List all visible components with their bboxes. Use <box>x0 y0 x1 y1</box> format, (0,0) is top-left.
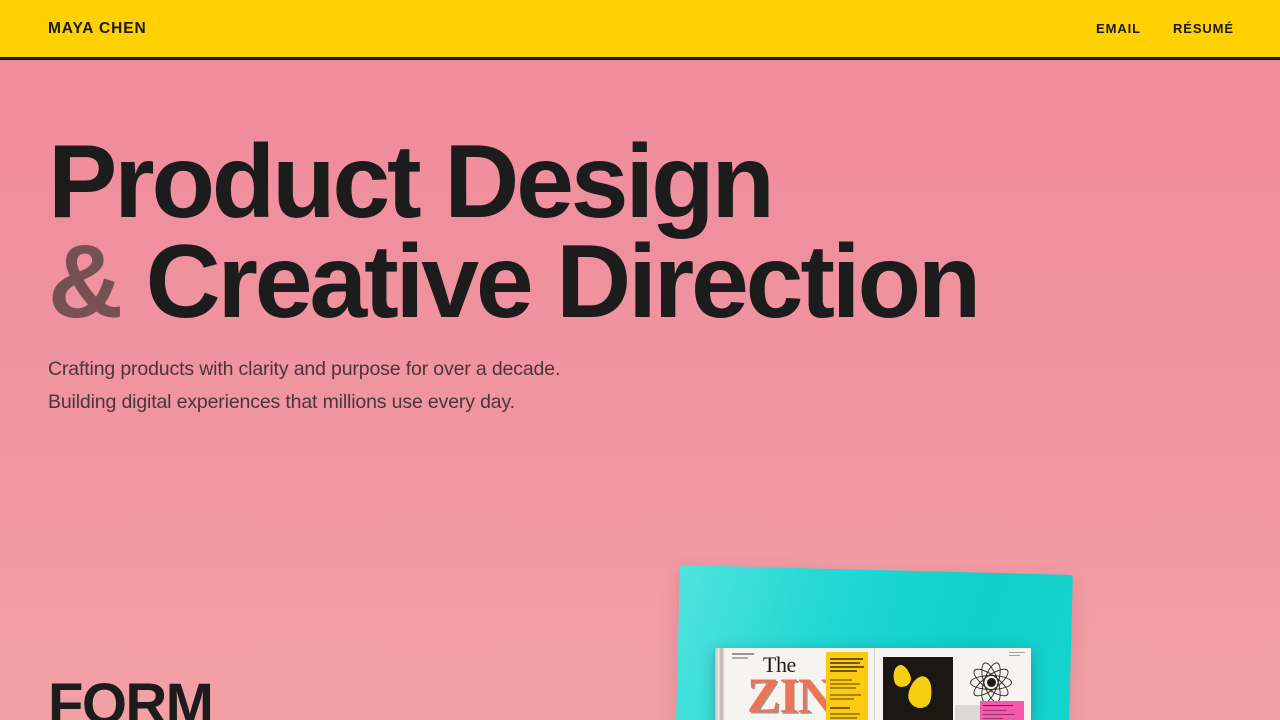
magazine-pink-note <box>980 701 1024 720</box>
site-header: MAYA CHEN EMAIL RÉSUMÉ <box>0 0 1280 60</box>
open-magazine: The ZIN <box>715 648 1041 720</box>
headline-line-2: Creative Direction <box>146 224 979 340</box>
page-background: MAYA CHEN EMAIL RÉSUMÉ Product Design & … <box>0 0 1280 720</box>
magazine-right-page <box>875 648 1031 720</box>
nav-link-resume[interactable]: RÉSUMÉ <box>1173 22 1234 35</box>
magazine-grey-sketch-note <box>955 705 981 720</box>
magazine-left-page: The ZIN <box>725 648 875 720</box>
headline-line-1: Product Design <box>48 124 772 240</box>
hero-photo-magazine: The ZIN <box>660 548 1120 720</box>
nav-link-email[interactable]: EMAIL <box>1096 22 1141 35</box>
magazine-black-panel <box>883 657 953 720</box>
masthead-rule-icon <box>732 653 754 655</box>
atom-diagram-icon <box>969 660 1013 704</box>
magazine-page-edges <box>715 648 725 720</box>
atom-nucleus-icon <box>987 678 996 687</box>
brand-logo[interactable]: MAYA CHEN <box>48 21 147 37</box>
page-title: Product Design & Creative Direction <box>48 133 978 333</box>
magazine-yellow-text-column <box>826 652 868 720</box>
headline-line-2-wrap: & Creative Direction <box>48 233 978 333</box>
hero-subtitle: Crafting products with clarity and purpo… <box>48 353 560 419</box>
magazine-title-zin: ZIN <box>747 670 833 720</box>
masthead-rule-secondary-icon <box>732 657 748 659</box>
pear-shape-small-icon <box>890 663 913 689</box>
page-number-marks-icon <box>1009 652 1025 657</box>
subtitle-line-2: Building digital experiences that millio… <box>48 386 560 419</box>
headline-ampersand: & <box>48 224 120 340</box>
subtitle-line-1: Crafting products with clarity and purpo… <box>48 353 560 386</box>
section-heading-form: FORM <box>48 676 212 720</box>
primary-nav: EMAIL RÉSUMÉ <box>1096 22 1234 35</box>
